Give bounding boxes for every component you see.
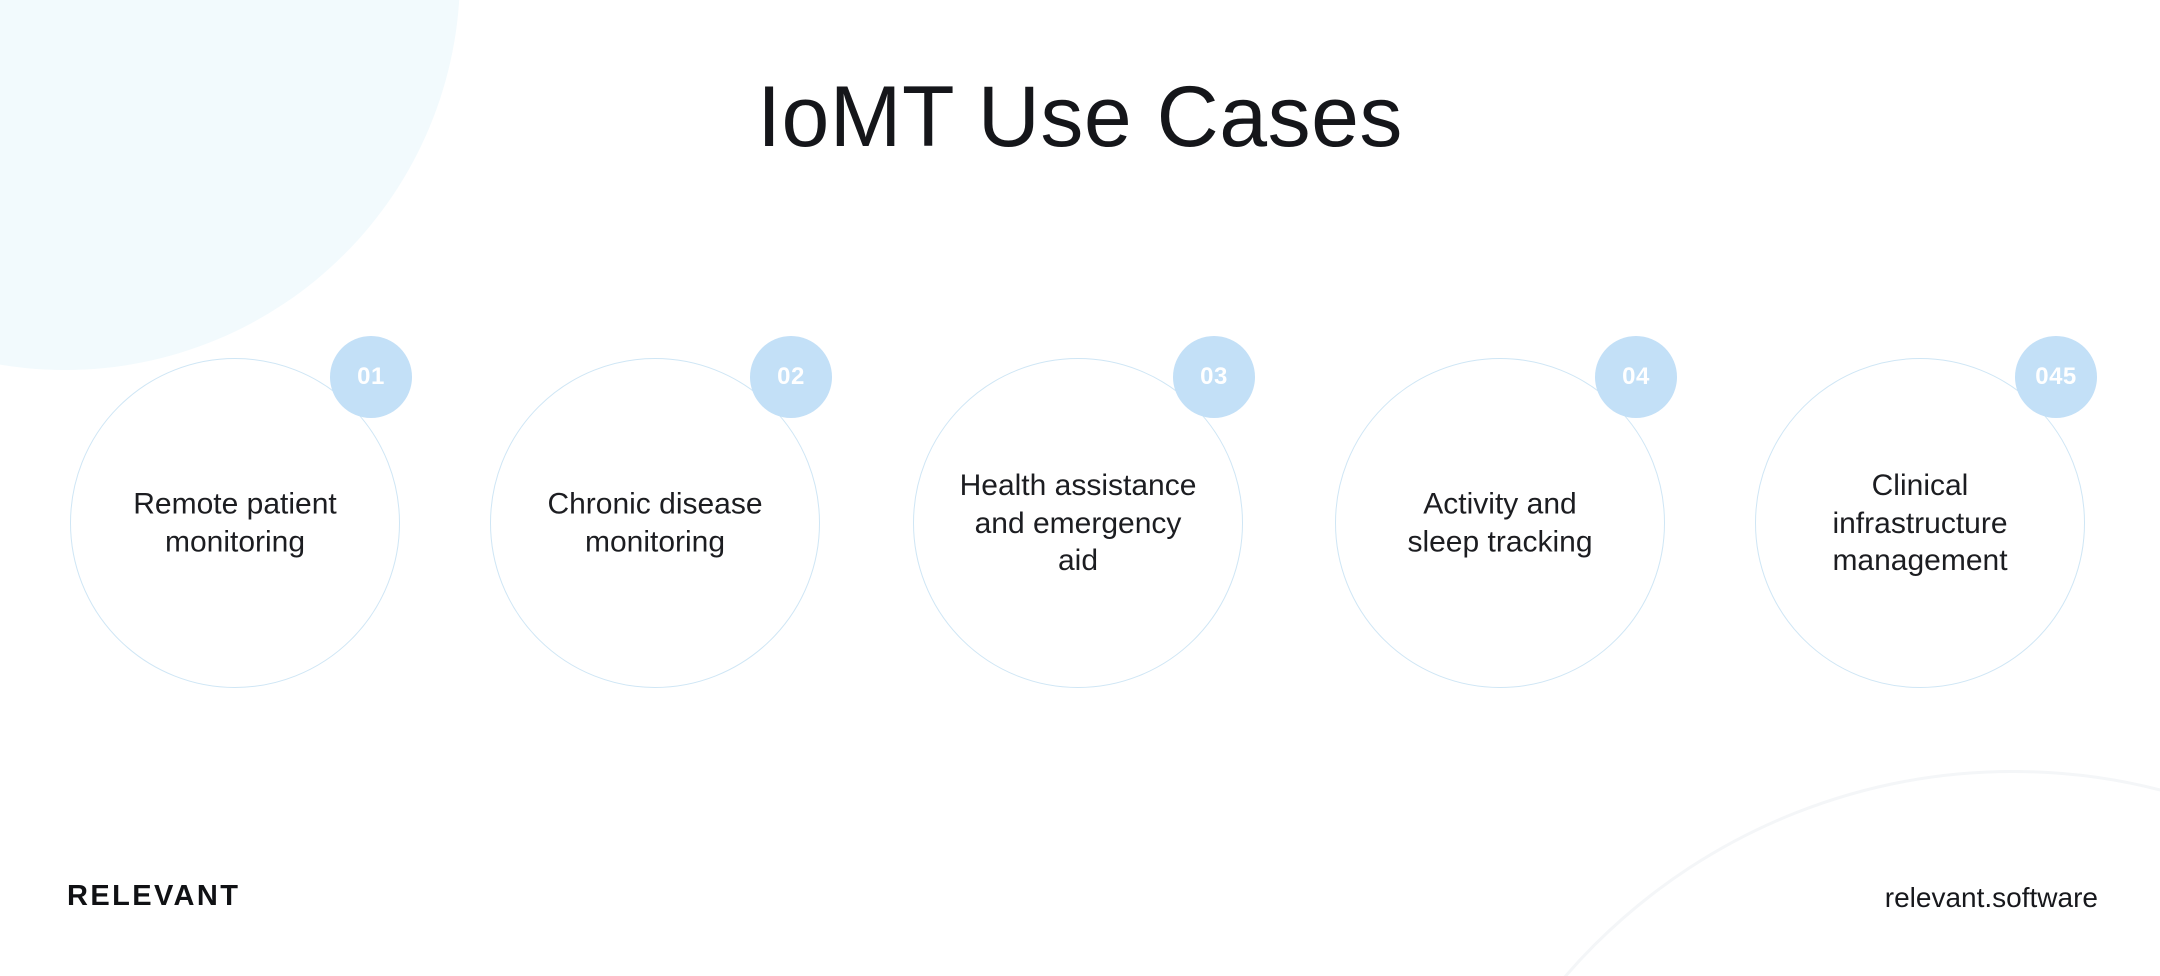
- use-case-label-1: Remote patient monitoring: [70, 486, 400, 561]
- use-case-item-5: Clinical infrastructure management 045: [1755, 358, 2085, 688]
- use-case-label-2: Chronic disease monitoring: [490, 486, 820, 561]
- site-url: relevant.software: [1885, 882, 2098, 914]
- use-case-item-2: Chronic disease monitoring 02: [490, 358, 820, 688]
- background-tint-circle-top-left: [0, 0, 460, 370]
- use-case-item-4: Activity and sleep tracking 04: [1335, 358, 1665, 688]
- use-case-item-3: Health assistance and emergency aid 03: [913, 358, 1243, 688]
- use-case-label-4: Activity and sleep tracking: [1335, 486, 1665, 561]
- use-case-label-5: Clinical infrastructure management: [1755, 467, 2085, 580]
- brand-logo: RELEVANT: [67, 880, 240, 913]
- use-case-badge-3: 03: [1173, 336, 1255, 418]
- use-case-badge-5: 045: [2015, 336, 2097, 418]
- use-case-badge-2: 02: [750, 336, 832, 418]
- use-case-circles-row: Remote patient monitoring 01 Chronic dis…: [0, 358, 2160, 718]
- use-case-badge-4: 04: [1595, 336, 1677, 418]
- page-title: IoMT Use Cases: [0, 72, 2160, 162]
- use-case-label-3: Health assistance and emergency aid: [913, 467, 1243, 580]
- use-case-badge-1: 01: [330, 336, 412, 418]
- use-case-item-1: Remote patient monitoring 01: [70, 358, 400, 688]
- background-arc-bottom-right: [1420, 770, 2160, 976]
- slide: IoMT Use Cases Remote patient monitoring…: [0, 0, 2160, 976]
